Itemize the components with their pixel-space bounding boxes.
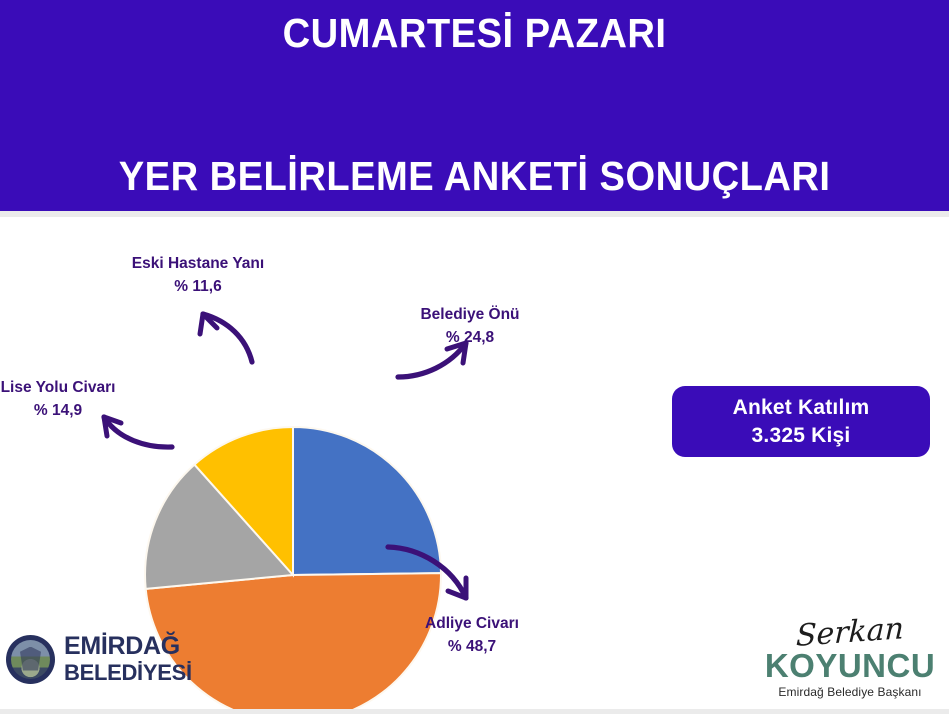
poster-canvas: CUMARTESİ PAZARI YER BELİRLEME ANKETİ SO… (0, 0, 949, 714)
page-title-line-1: CUMARTESİ PAZARI (119, 10, 831, 58)
slice-label-adliye-percent: % 48,7 (398, 636, 546, 659)
page-title-line-2: YER BELİRLEME ANKETİ SONUÇLARI (119, 153, 831, 201)
municipality-logo: EMİRDAĞ BELEDİYESİ (6, 634, 192, 684)
arrow-to-eski-hastane-icon (200, 314, 252, 362)
mayor-logo: Serkan KOYUNCU Emirdağ Belediye Başkanı (760, 618, 940, 699)
mayor-role-title: Emirdağ Belediye Başkanı (760, 685, 940, 699)
slice-label-eski-hastane-name: Eski Hastane Yanı (132, 255, 264, 272)
slice-label-adliye-name: Adliye Civarı (425, 615, 519, 632)
slice-label-eski-hastane-percent: % 11,6 (104, 276, 292, 299)
slice-label-adliye: Adliye Civarı % 48,7 (398, 613, 546, 659)
slice-label-lise-yolu-percent: % 14,9 (0, 400, 138, 423)
municipality-crest-icon (6, 635, 55, 684)
municipality-wordmark: EMİRDAĞ BELEDİYESİ (64, 634, 192, 684)
slice-label-lise-yolu-name: Lise Yolu Civarı (1, 379, 116, 396)
footer-divider (0, 709, 949, 714)
participation-badge-title: Anket Katılım (733, 394, 870, 422)
slice-label-lise-yolu: Lise Yolu Civarı % 14,9 (0, 377, 138, 423)
header-banner: CUMARTESİ PAZARI YER BELİRLEME ANKETİ SO… (0, 0, 949, 211)
participation-badge-count: 3.325 Kişi (752, 422, 851, 450)
participation-badge: Anket Katılım 3.325 Kişi (672, 386, 930, 457)
slice-label-belediye-percent: % 24,8 (396, 327, 544, 350)
pie-chart-svg (0, 217, 640, 672)
pie-chart (0, 217, 640, 672)
municipality-name-line-2: BELEDİYESİ (64, 662, 192, 684)
municipality-name-line-1: EMİRDAĞ (64, 634, 192, 659)
mayor-last-name: KOYUNCU (760, 649, 940, 683)
slice-label-belediye-name: Belediye Önü (420, 306, 519, 323)
slice-label-eski-hastane: Eski Hastane Yanı % 11,6 (104, 253, 292, 299)
slice-label-belediye: Belediye Önü % 24,8 (396, 304, 544, 350)
